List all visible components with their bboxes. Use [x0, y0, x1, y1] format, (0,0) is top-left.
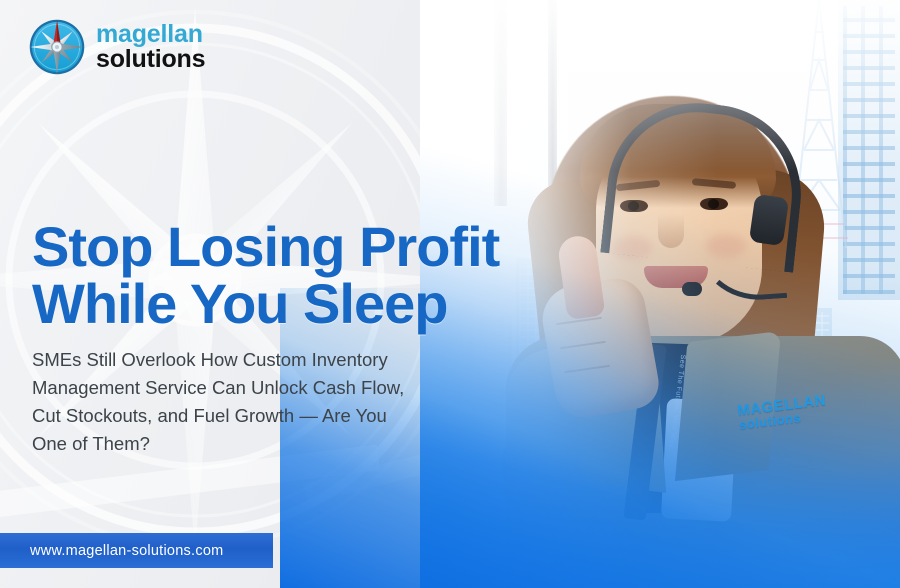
subheadline-line-4: One of Them?: [32, 430, 502, 458]
brand-logo[interactable]: magellan solutions: [28, 18, 205, 76]
website-url-bar[interactable]: www.magellan-solutions.com: [0, 533, 273, 568]
subheadline-line-2: Management Service Can Unlock Cash Flow,: [32, 374, 502, 402]
headline: Stop Losing Profit While You Sleep: [32, 218, 499, 332]
headline-line-2: While You Sleep: [32, 275, 499, 332]
subheadline: SMEs Still Overlook How Custom Inventory…: [32, 346, 502, 458]
compass-rose-icon: [28, 18, 86, 76]
brand-name-solutions: solutions: [96, 47, 205, 72]
brand-name-magellan: magellan: [96, 22, 205, 47]
brand-wordmark: magellan solutions: [96, 22, 205, 72]
headline-line-1: Stop Losing Profit: [32, 218, 499, 275]
subheadline-line-3: Cut Stockouts, and Fuel Growth — Are You: [32, 402, 502, 430]
website-url-text: www.magellan-solutions.com: [0, 543, 223, 559]
subheadline-line-1: SMEs Still Overlook How Custom Inventory: [32, 346, 502, 374]
marketing-banner: See The Future. Your Way. MAGELLAN solut…: [0, 0, 900, 588]
